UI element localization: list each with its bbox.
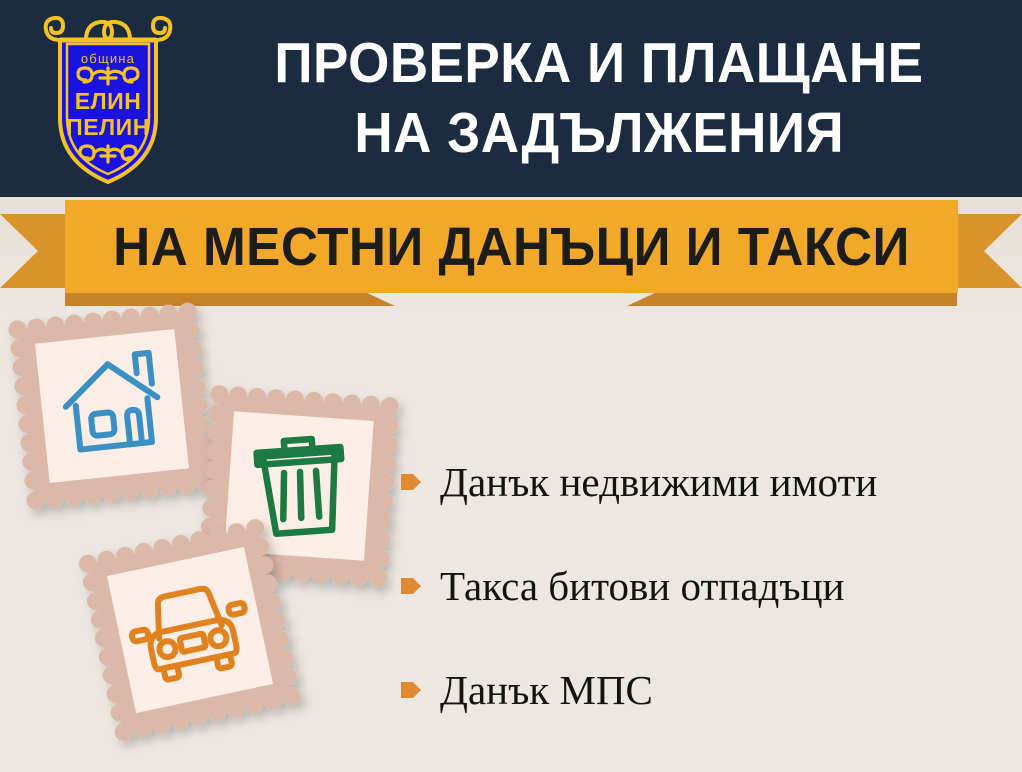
ribbon-fold-left (65, 292, 395, 306)
stamp-house-body (8, 302, 217, 511)
poster-title-line-1: ПРОВЕРКА И ПЛАЩАНЕ (274, 29, 923, 99)
poster-title-line-2: НА ЗАДЪЛЖЕНИЯ (354, 99, 844, 169)
ribbon-fold-right (627, 292, 957, 306)
emblem-name-line-1: ЕЛИН (75, 88, 142, 114)
arrow-bullet-icon (400, 470, 422, 494)
services-list: Данък недвижими имоти Такса битови отпад… (400, 430, 1012, 742)
shield-curl-left (46, 18, 63, 40)
service-label: Такса битови отпадъци (440, 566, 844, 607)
ribbon-banner (0, 188, 1022, 316)
emblem-top-label: община (81, 51, 135, 66)
stamp-house (9, 303, 216, 510)
poster-canvas: община ЕЛИН ПЕЛИН ПРОВЕРКА И П (0, 0, 1022, 772)
arrow-bullet-icon (400, 678, 422, 702)
stamp-car (79, 519, 302, 742)
service-label: Данък МПС (440, 670, 653, 711)
poster-title: ПРОВЕРКА И ПЛАЩАНЕ НА ЗАДЪЛЖЕНИЯ (186, 18, 1012, 180)
list-item[interactable]: Такса битови отпадъци (400, 534, 1012, 638)
municipality-emblem: община ЕЛИН ПЕЛИН (38, 10, 178, 188)
ribbon-tail-right (950, 214, 1022, 288)
emblem-name-line-2: ПЕЛИН (66, 114, 150, 140)
shield-curl-right (153, 18, 170, 40)
arrow-bullet-icon (400, 574, 422, 598)
list-item[interactable]: Данък недвижими имоти (400, 430, 1012, 534)
service-label: Данък недвижими имоти (440, 462, 877, 503)
ribbon-tail-left (0, 214, 72, 288)
stamp-car-body (77, 517, 302, 742)
ribbon-face (65, 200, 958, 293)
shield-curl-inner-right (104, 22, 130, 40)
list-item[interactable]: Данък МПС (400, 638, 1012, 742)
